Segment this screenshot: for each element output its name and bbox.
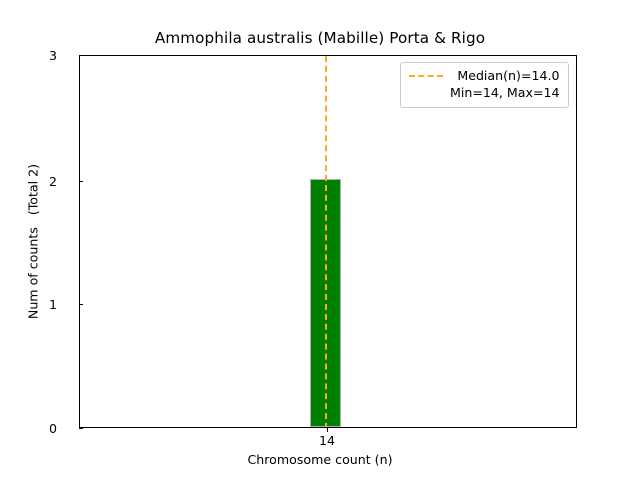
ytick-label-2: 2 (49, 174, 57, 189)
y-axis-label: Num of counts (Total 2) (26, 2, 41, 480)
plot-area (80, 56, 576, 427)
plot-axes (79, 55, 577, 428)
chart-figure: Ammophila australis (Mabille) Porta & Ri… (0, 0, 640, 480)
ytick-mark-0 (79, 428, 83, 429)
ytick-mark-3 (79, 55, 83, 56)
legend-entry: Median(n)=14.0 Min=14, Max=14 (450, 68, 560, 101)
ytick-label-3: 3 (49, 48, 57, 63)
x-axis-label: Chromosome count (n) (0, 452, 640, 467)
legend-minmax-label: Min=14, Max=14 (450, 85, 560, 102)
chart-title: Ammophila australis (Mabille) Porta & Ri… (0, 29, 640, 47)
ytick-mark-1 (79, 304, 83, 305)
ytick-label-0: 0 (49, 421, 57, 436)
legend-box: Median(n)=14.0 Min=14, Max=14 (400, 62, 569, 108)
ytick-mark-2 (79, 181, 83, 182)
xtick-mark-14 (327, 428, 328, 432)
legend-median-label: Median(n)=14.0 (457, 68, 559, 85)
median-line (325, 56, 327, 427)
xtick-label-14: 14 (319, 433, 335, 448)
median-line-swatch-icon (409, 68, 443, 85)
ytick-label-1: 1 (49, 297, 57, 312)
